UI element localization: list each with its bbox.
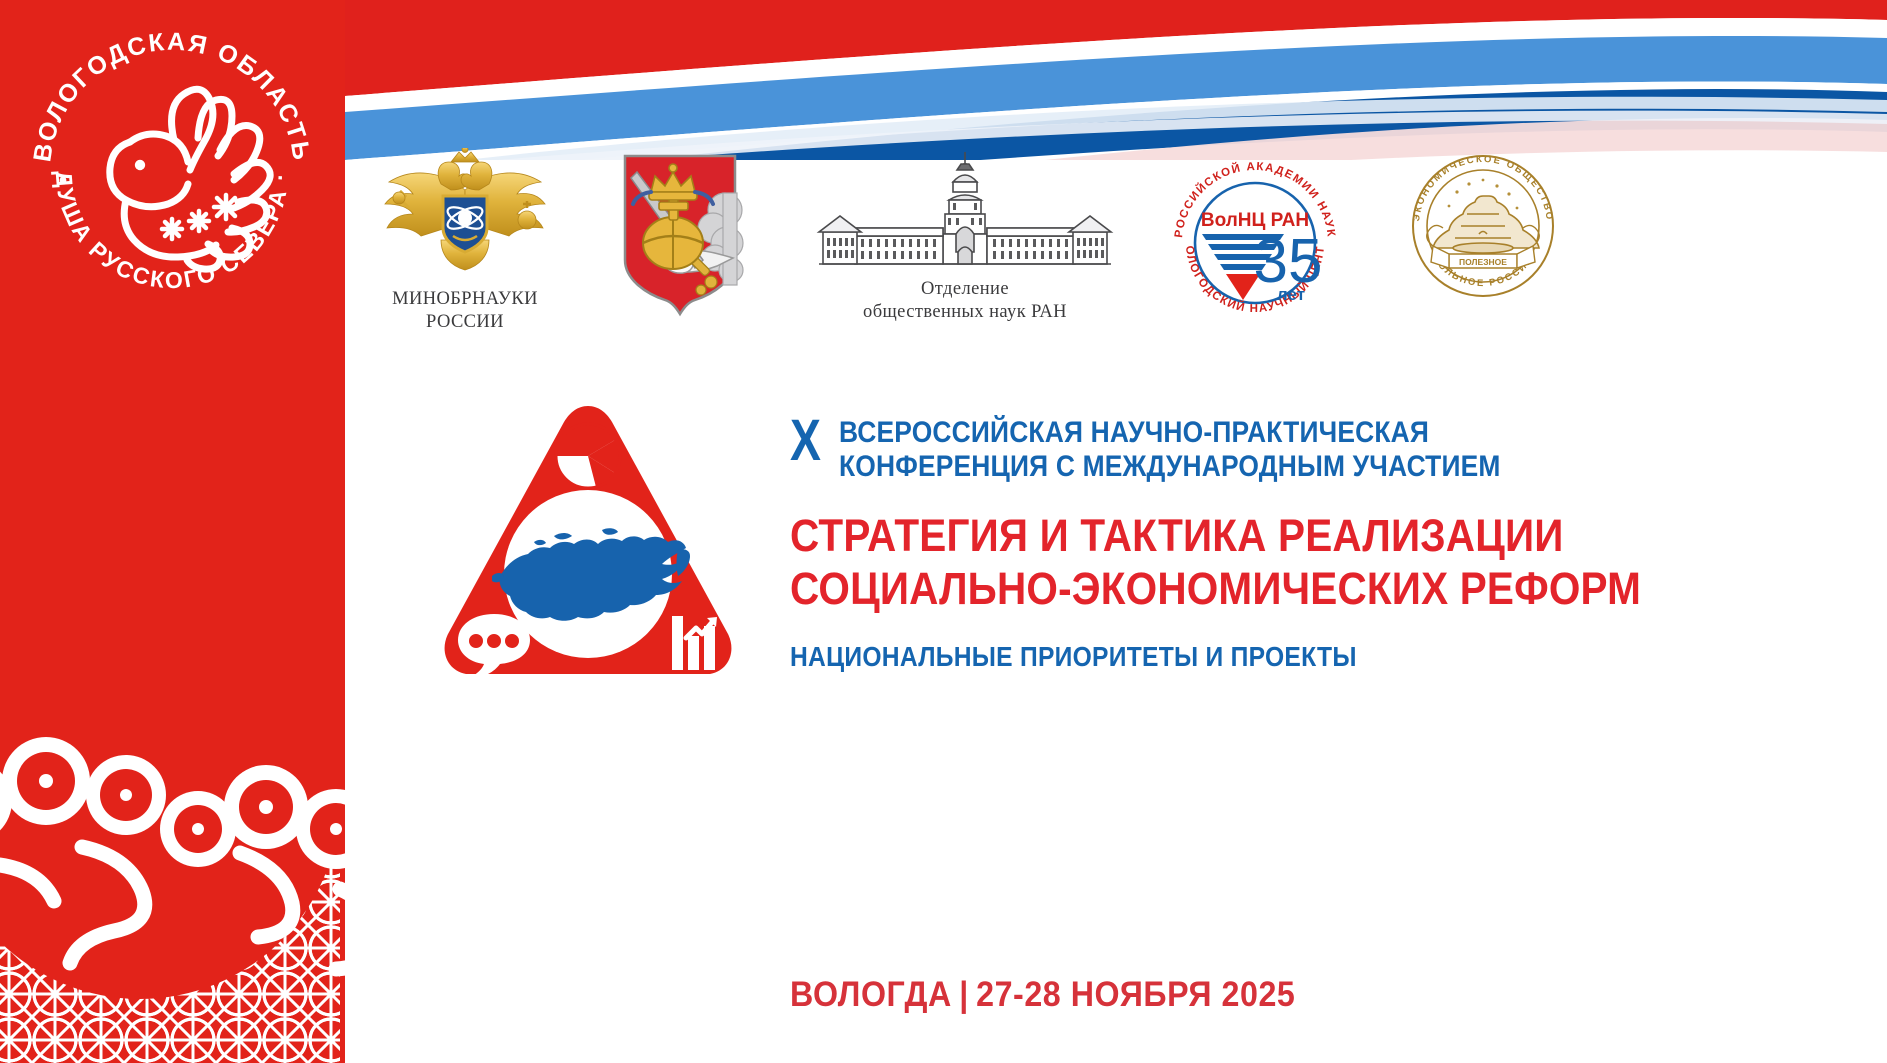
ran-caption: Отделение общественных наук РАН [795, 278, 1135, 323]
partner-logos-strip: МИНОБРНАУКИ РОССИИ [345, 148, 1887, 368]
venue-separator: | [952, 975, 976, 1015]
ran-social-sciences-department-logo: Отделение общественных наук РАН [795, 148, 1135, 323]
venue-date-line: ВОЛОГДА|27-28 НОЯБРЯ 2025 [790, 975, 1295, 1015]
conference-kind-row: X ВСЕРОССИЙСКАЯ НАУЧНО-ПРАКТИЧЕСКАЯ КОНФ… [790, 414, 1850, 483]
volnc-anniversary-label: лет [1277, 285, 1305, 304]
veo-beehive-seal-icon: ЭКОНОМИЧЕСКОЕ ОБЩЕСТВО ВОЛЬНОЕ РОССИИ [1405, 148, 1560, 303]
vologda-region-brand-emblem: ВОЛОГОДСКАЯ ОБЛАСТЬ ДУША РУССКОГО СЕВЕРА… [22, 22, 322, 322]
veo-ribbon-text: ПОЛЕЗНОЕ [1459, 257, 1507, 267]
volnc-seal-icon: РОССИЙСКОЙ АКАДЕМИИ НАУК ВОЛОГОДСКИЙ НАУ… [1160, 148, 1350, 323]
svg-text:ВОЛОГОДСКАЯ ОБЛАСТЬ: ВОЛОГОДСКАЯ ОБЛАСТЬ [28, 28, 316, 164]
vologda-shield-icon [585, 148, 775, 323]
free-economic-society-logo: ЭКОНОМИЧЕСКОЕ ОБЩЕСТВО ВОЛЬНОЕ РОССИИ [1405, 148, 1560, 313]
tricolor-ribbon-wave [345, 0, 1887, 160]
conference-subtheme: НАЦИОНАЛЬНЫЕ ПРИОРИТЕТЫ И ПРОЕКТЫ [790, 641, 1723, 673]
conference-emblem [432, 398, 744, 686]
volnc-ran-35-anniversary-logo: РОССИЙСКОЙ АКАДЕМИИ НАУК ВОЛОГОДСКИЙ НАУ… [1160, 148, 1350, 333]
conference-main-title: СТРАТЕГИЯ И ТАКТИКА РЕАЛИЗАЦИИ СОЦИАЛЬНО… [790, 509, 1744, 615]
conference-ordinal: X [790, 414, 820, 467]
conference-poster: ВОЛОГОДСКАЯ ОБЛАСТЬ ДУША РУССКОГО СЕВЕРА… [0, 0, 1887, 1063]
pie-chart-icon [556, 424, 620, 488]
title-block: X ВСЕРОССИЙСКАЯ НАУЧНО-ПРАКТИЧЕСКАЯ КОНФ… [790, 414, 1850, 673]
left-red-panel: ВОЛОГОДСКАЯ ОБЛАСТЬ ДУША РУССКОГО СЕВЕРА… [0, 0, 345, 1063]
conference-kind: ВСЕРОССИЙСКАЯ НАУЧНО-ПРАКТИЧЕСКАЯ КОНФЕР… [839, 414, 1501, 483]
academy-building-icon [795, 148, 1135, 268]
minobrnauki-caption: МИНОБРНАУКИ РОССИИ [355, 288, 575, 333]
venue-city: ВОЛОГДА [790, 975, 952, 1014]
golden-double-headed-eagle-icon [355, 148, 575, 278]
vologda-oblast-coat-of-arms [585, 148, 775, 333]
vologda-lace-ornament [0, 603, 345, 1063]
conference-dates: 27-28 НОЯБРЯ 2025 [976, 975, 1295, 1014]
minobrnauki-logo: МИНОБРНАУКИ РОССИИ [355, 148, 575, 333]
